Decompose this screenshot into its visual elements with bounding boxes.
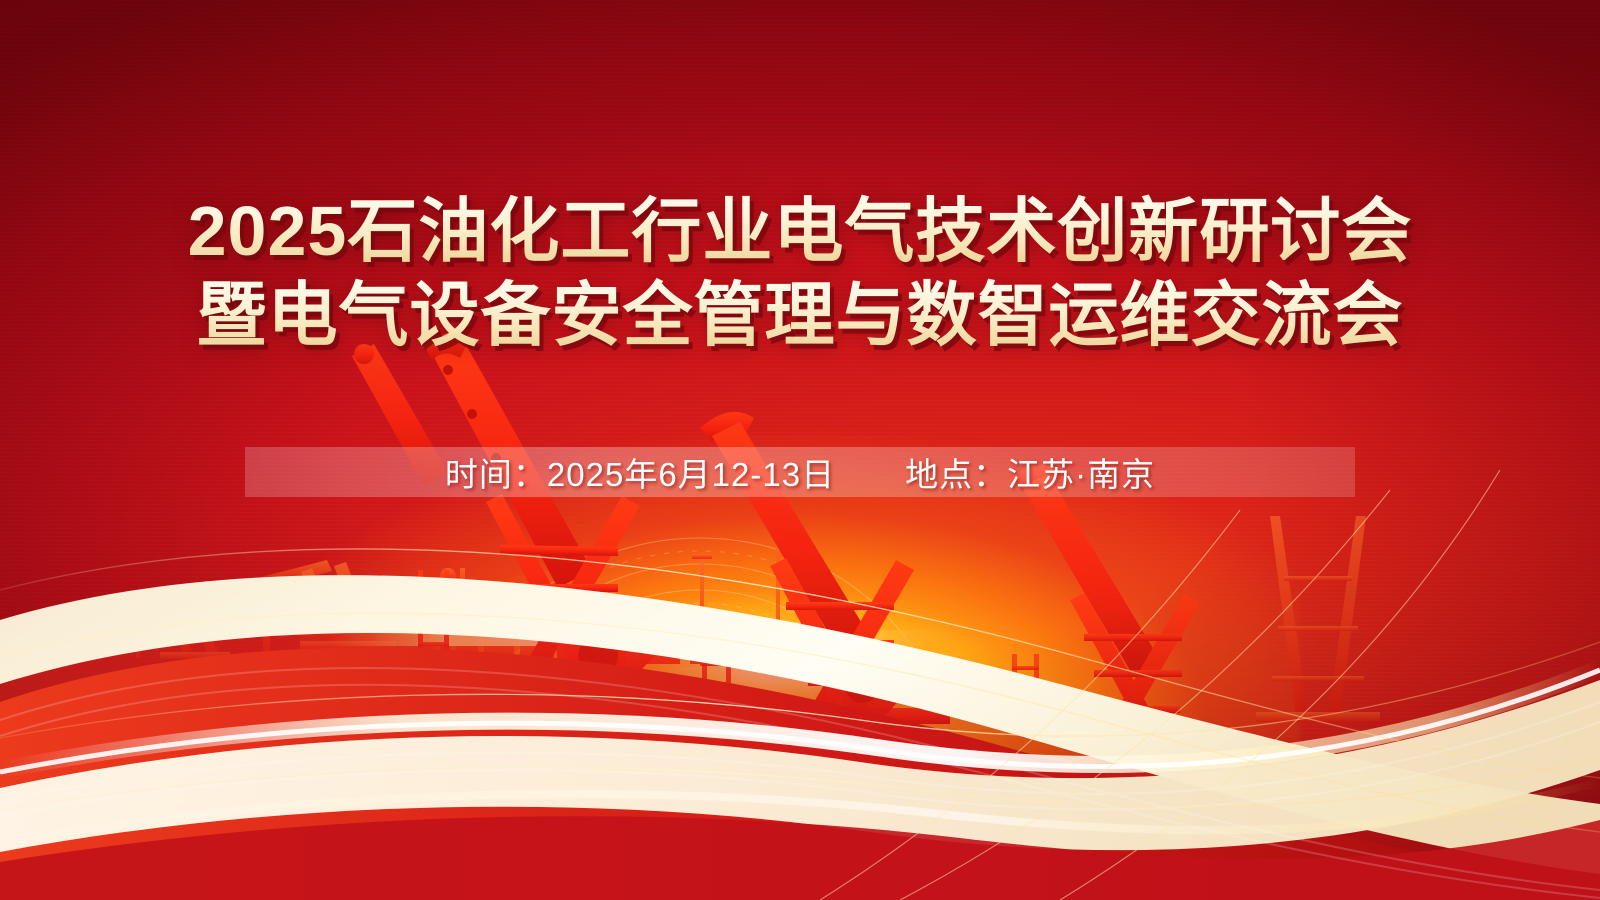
title-line-1: 2025石油化工行业电气技术创新研讨会 — [0, 186, 1600, 276]
banner-title: 2025石油化工行业电气技术创新研讨会 暨电气设备安全管理与数智运维交流会 — [0, 186, 1600, 360]
title-line-2: 暨电气设备安全管理与数智运维交流会 — [0, 270, 1600, 360]
event-date: 时间：2025年6月12-13日 — [445, 448, 835, 496]
info-band: 时间：2025年6月12-13日 地点：江苏·南京 — [245, 447, 1355, 497]
event-location: 地点：江苏·南京 — [905, 448, 1155, 496]
conference-banner: 2025石油化工行业电气技术创新研讨会 暨电气设备安全管理与数智运维交流会 时间… — [0, 0, 1600, 900]
ribbon-waves-graphic — [0, 470, 1600, 900]
